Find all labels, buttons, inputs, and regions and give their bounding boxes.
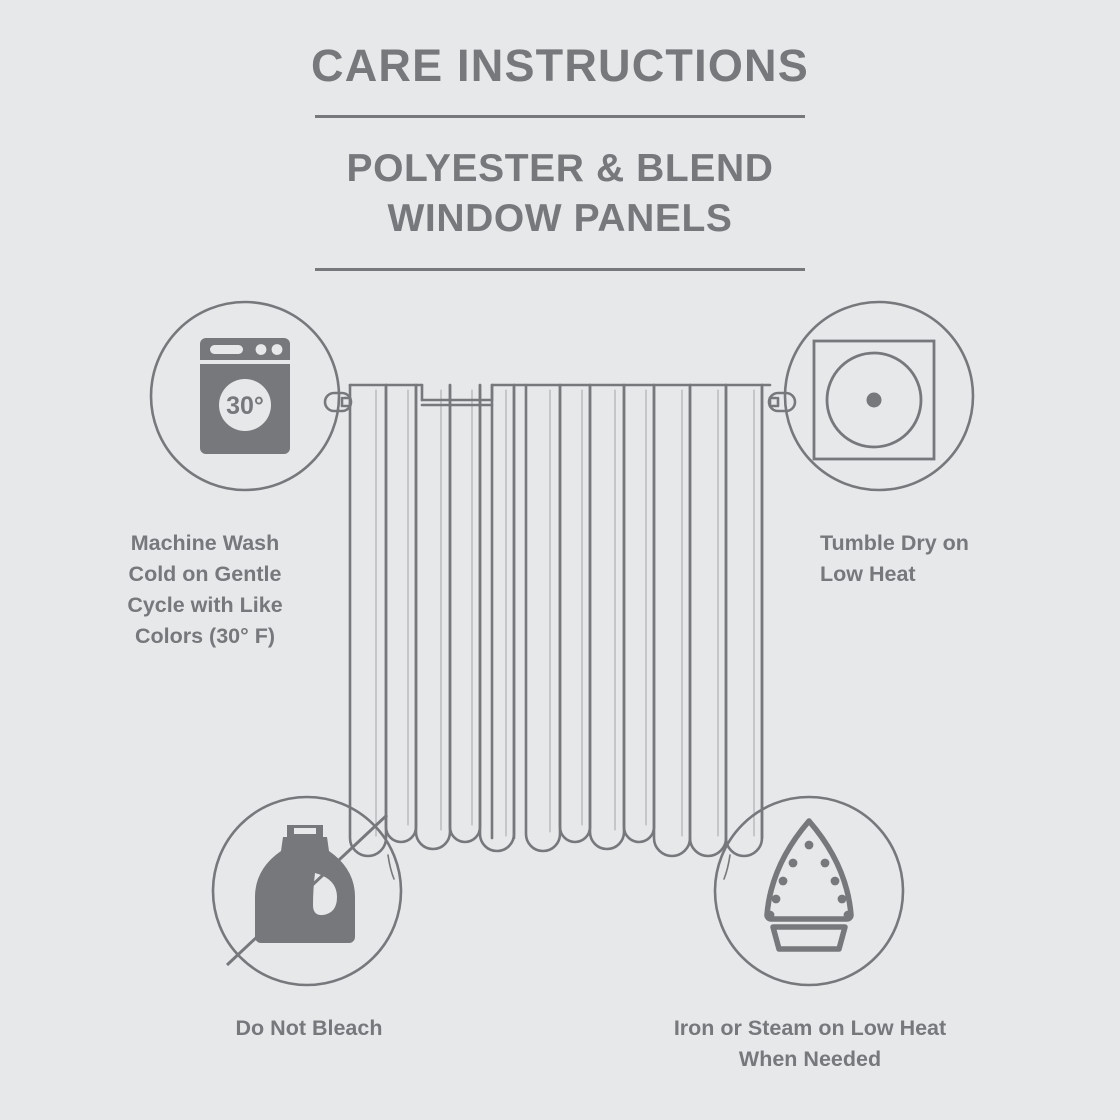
dry-heat-dot	[867, 393, 882, 408]
caption-line: Machine Wash	[131, 531, 280, 555]
caption-line: When Needed	[739, 1047, 881, 1071]
tumble-dry-low-icon	[781, 298, 977, 494]
caption-line: Cold on Gentle	[129, 562, 282, 586]
caption-line: Do Not Bleach	[236, 1016, 383, 1040]
steam-holes	[766, 841, 853, 920]
subtitle-line-1: POLYESTER & BLEND	[347, 147, 774, 190]
washing-machine-icon: 30°	[147, 298, 343, 494]
caption-line: Tumble Dry on	[820, 531, 969, 555]
page-subtitle: POLYESTER & BLEND WINDOW PANELS	[0, 118, 1120, 244]
caption-line: Iron or Steam on Low Heat	[674, 1016, 946, 1040]
header: CARE INSTRUCTIONS POLYESTER & BLEND WIND…	[0, 0, 1120, 271]
divider-bottom	[315, 268, 805, 271]
iron-icon	[711, 793, 907, 989]
icon-badge-machine-wash: 30°	[147, 298, 343, 494]
wash-temperature-label: 30°	[226, 392, 264, 420]
caption-line: Low Heat	[820, 562, 916, 586]
icon-badge-iron	[711, 793, 907, 989]
icon-badge-tumble-dry	[781, 298, 977, 494]
icon-badge-do-not-bleach	[209, 793, 405, 989]
caption-line: Cycle with Like	[127, 593, 282, 617]
caption-do-not-bleach: Do Not Bleach	[180, 1013, 438, 1044]
no-bleach-icon	[209, 793, 405, 989]
page-title: CARE INSTRUCTIONS	[0, 0, 1120, 89]
caption-iron: Iron or Steam on Low Heat When Needed	[600, 1013, 1020, 1075]
caption-tumble-dry: Tumble Dry on Low Heat	[820, 528, 1070, 590]
caption-machine-wash: Machine Wash Cold on Gentle Cycle with L…	[85, 528, 325, 652]
subtitle-line-2: WINDOW PANELS	[387, 197, 732, 240]
caption-line: Colors (30° F)	[135, 624, 275, 648]
care-instructions-infographic: CARE INSTRUCTIONS POLYESTER & BLEND WIND…	[0, 0, 1120, 1120]
